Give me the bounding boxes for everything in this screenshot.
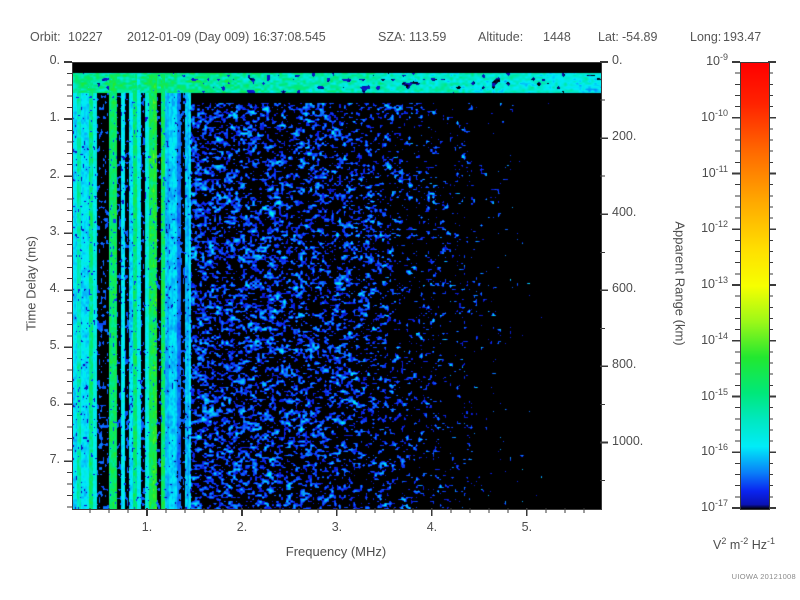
metadata-header: Orbit: 10227 2012-01-09 (Day 009) 16:37:… xyxy=(0,30,800,48)
long-label: Long: xyxy=(690,30,721,44)
unit-m-exp: -2 xyxy=(740,536,748,546)
colorbar-tick-2: 10-11 xyxy=(674,164,728,180)
right-tick-5: 1000. xyxy=(612,434,672,448)
left-tick-7: 7. xyxy=(14,452,60,466)
right-tick-3: 600. xyxy=(612,281,672,295)
colorbar-tick-mantissa-4: 10 xyxy=(701,277,715,291)
colorbar-tick-exponent-5: -14 xyxy=(715,331,728,341)
bottom-tick-3: 4. xyxy=(402,520,462,534)
right-tick-4: 800. xyxy=(612,357,672,371)
lat-label: Lat: xyxy=(598,30,619,44)
bottom-tick-4: 5. xyxy=(497,520,557,534)
long-value: 193.47 xyxy=(723,30,761,44)
lat-value: -54.89 xyxy=(622,30,657,44)
colorbar-tick-3: 10-12 xyxy=(674,219,728,235)
colorbar xyxy=(740,62,770,510)
ionogram-figure: Orbit: 10227 2012-01-09 (Day 009) 16:37:… xyxy=(0,0,800,600)
colorbar-tick-mantissa-6: 10 xyxy=(701,389,715,403)
unit-m: m xyxy=(730,538,740,552)
institution-credit: UIOWA 20121008 xyxy=(688,572,796,581)
colorbar-tick-5: 10-14 xyxy=(674,331,728,347)
altitude-label: Altitude: xyxy=(478,30,523,44)
colorbar-tick-exponent-1: -10 xyxy=(715,108,728,118)
altitude-value: 1448 xyxy=(543,30,571,44)
colorbar-tick-0: 10-9 xyxy=(674,52,728,68)
colorbar-tick-mantissa-7: 10 xyxy=(701,444,715,458)
colorbar-units-label: V2 m-2 Hz-1 xyxy=(688,536,800,552)
unit-hz-exp: -1 xyxy=(767,536,775,546)
colorbar-tick-4: 10-13 xyxy=(674,275,728,291)
orbit-label: Orbit: xyxy=(30,30,61,44)
colorbar-tick-exponent-2: -11 xyxy=(716,164,728,174)
radargram-plot-area xyxy=(72,62,602,510)
colorbar-tick-exponent-0: -9 xyxy=(720,52,728,62)
radargram-heatmap xyxy=(73,63,601,509)
left-tick-2: 2. xyxy=(14,167,60,181)
colorbar-tick-8: 10-17 xyxy=(674,498,728,514)
unit-v-exp: 2 xyxy=(721,536,726,546)
colorbar-tick-exponent-4: -13 xyxy=(715,275,728,285)
unit-hz: Hz xyxy=(752,538,767,552)
bottom-axis-title: Frequency (MHz) xyxy=(72,544,600,559)
datetime-value: 2012-01-09 (Day 009) 16:37:08.545 xyxy=(127,30,326,44)
right-tick-0: 0. xyxy=(612,53,672,67)
bottom-tick-2: 3. xyxy=(307,520,367,534)
sza-value: 113.59 xyxy=(409,30,446,44)
left-tick-0: 0. xyxy=(14,53,60,67)
bottom-tick-1: 2. xyxy=(212,520,272,534)
colorbar-tick-mantissa-3: 10 xyxy=(701,221,715,235)
colorbar-tick-1: 10-10 xyxy=(674,108,728,124)
colorbar-tick-mantissa-5: 10 xyxy=(701,333,715,347)
colorbar-tick-mantissa-2: 10 xyxy=(702,166,716,180)
colorbar-tick-mantissa-1: 10 xyxy=(701,110,715,124)
right-tick-2: 400. xyxy=(612,205,672,219)
left-tick-1: 1. xyxy=(14,110,60,124)
colorbar-tick-7: 10-16 xyxy=(674,442,728,458)
colorbar-tick-mantissa-0: 10 xyxy=(706,54,720,68)
colorbar-tick-exponent-7: -16 xyxy=(715,442,728,452)
colorbar-tick-exponent-8: -17 xyxy=(715,498,728,508)
colorbar-tick-exponent-3: -12 xyxy=(715,219,728,229)
colorbar-tick-6: 10-15 xyxy=(674,387,728,403)
left-axis-title: Time Delay (ms) xyxy=(24,204,39,364)
colorbar-tick-mantissa-8: 10 xyxy=(701,500,715,514)
bottom-tick-0: 1. xyxy=(117,520,177,534)
colorbar-gradient xyxy=(741,63,769,509)
sza-label: SZA: xyxy=(378,30,406,44)
colorbar-tick-exponent-6: -15 xyxy=(715,387,728,397)
right-tick-1: 200. xyxy=(612,129,672,143)
orbit-value: 10227 xyxy=(68,30,103,44)
left-tick-6: 6. xyxy=(14,395,60,409)
